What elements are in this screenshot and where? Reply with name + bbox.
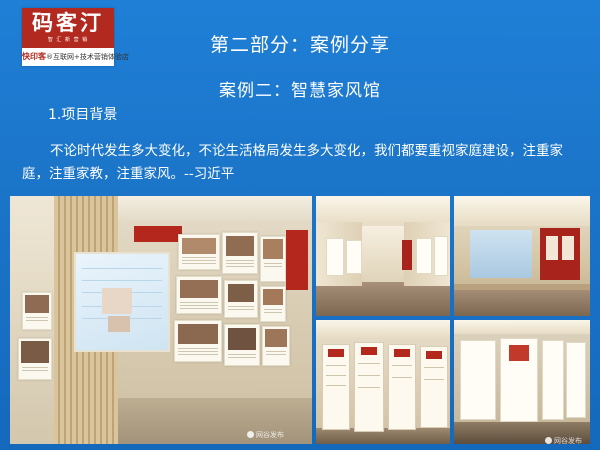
- interactive-screen-panel: [74, 252, 170, 352]
- body-paragraph: 不论时代发生多大变化，不论生活格局发生多大变化，我们都要重视家庭建设，注重家庭，…: [22, 140, 582, 186]
- back-wall: [362, 226, 405, 282]
- wall-base-trim: [454, 284, 590, 290]
- wall-panel: [222, 232, 258, 274]
- wall-panel: [178, 234, 220, 270]
- photo-red-wall-exhibit-display: [454, 196, 590, 316]
- scroll-panel: [322, 344, 350, 430]
- watermark-dot-icon: [545, 437, 552, 444]
- photo-exhibition-hall-corridor: [316, 196, 450, 316]
- red-banner-right: [286, 230, 308, 290]
- ceiling-area: [316, 320, 450, 338]
- display-panel: [346, 240, 362, 274]
- wall-panel-left: [22, 292, 52, 330]
- photo-lightbox-panel-wall: [454, 320, 590, 444]
- floor-area: [316, 282, 450, 316]
- wall-panel-left: [18, 338, 52, 380]
- slide-title-main: 第二部分：案例分享: [0, 30, 600, 57]
- lightbox-panel: [460, 340, 496, 420]
- wall-panel: [260, 286, 286, 322]
- display-panel: [434, 236, 448, 276]
- blue-information-board: [470, 230, 532, 278]
- photo-grid: [10, 196, 590, 444]
- body-paragraph-text: 不论时代发生多大变化，不论生活格局发生多大变化，我们都要重视家庭建设，注重家庭，…: [22, 140, 582, 186]
- presentation-slide: 码客汀 智 汇 新 营 销 快印客®互联网+技术营销体验店 第二部分：案例分享 …: [0, 0, 600, 450]
- wall-panel: [224, 280, 258, 318]
- scroll-panel: [354, 342, 384, 432]
- display-panel: [326, 238, 344, 276]
- wall-panel: [176, 276, 222, 314]
- lightbox-panel: [566, 342, 586, 418]
- watermark-dot-icon: [247, 431, 254, 438]
- wall-panel: [224, 324, 260, 366]
- watermark-right-text: 网谷发布: [554, 438, 582, 445]
- red-accent: [402, 240, 412, 270]
- photo-exhibition-corridor-wood-slat-wall: [10, 196, 312, 444]
- wall-panel: [260, 236, 286, 282]
- watermark-center: 网谷发布: [247, 430, 284, 440]
- ceiling-area: [454, 196, 590, 226]
- portrait-photo: [546, 236, 558, 260]
- wall-panel: [174, 320, 222, 362]
- scroll-panel: [420, 346, 448, 428]
- photo-scroll-panel-display: [316, 320, 450, 444]
- scroll-panel: [388, 344, 416, 430]
- lightbox-panel: [542, 340, 564, 420]
- display-panel: [416, 238, 432, 274]
- red-banner-top: [134, 226, 182, 242]
- slide-title-sub: 案例二：智慧家风馆: [0, 76, 600, 101]
- section-heading: 1.项目背景: [48, 104, 117, 124]
- floor-area: [454, 288, 590, 316]
- ceiling-area: [454, 320, 590, 334]
- watermark-center-text: 网谷发布: [256, 432, 284, 439]
- watermark-right: 网谷发布: [545, 436, 582, 446]
- portrait-photo: [562, 236, 574, 260]
- lightbox-panel: [500, 338, 538, 422]
- wall-panel: [262, 326, 290, 366]
